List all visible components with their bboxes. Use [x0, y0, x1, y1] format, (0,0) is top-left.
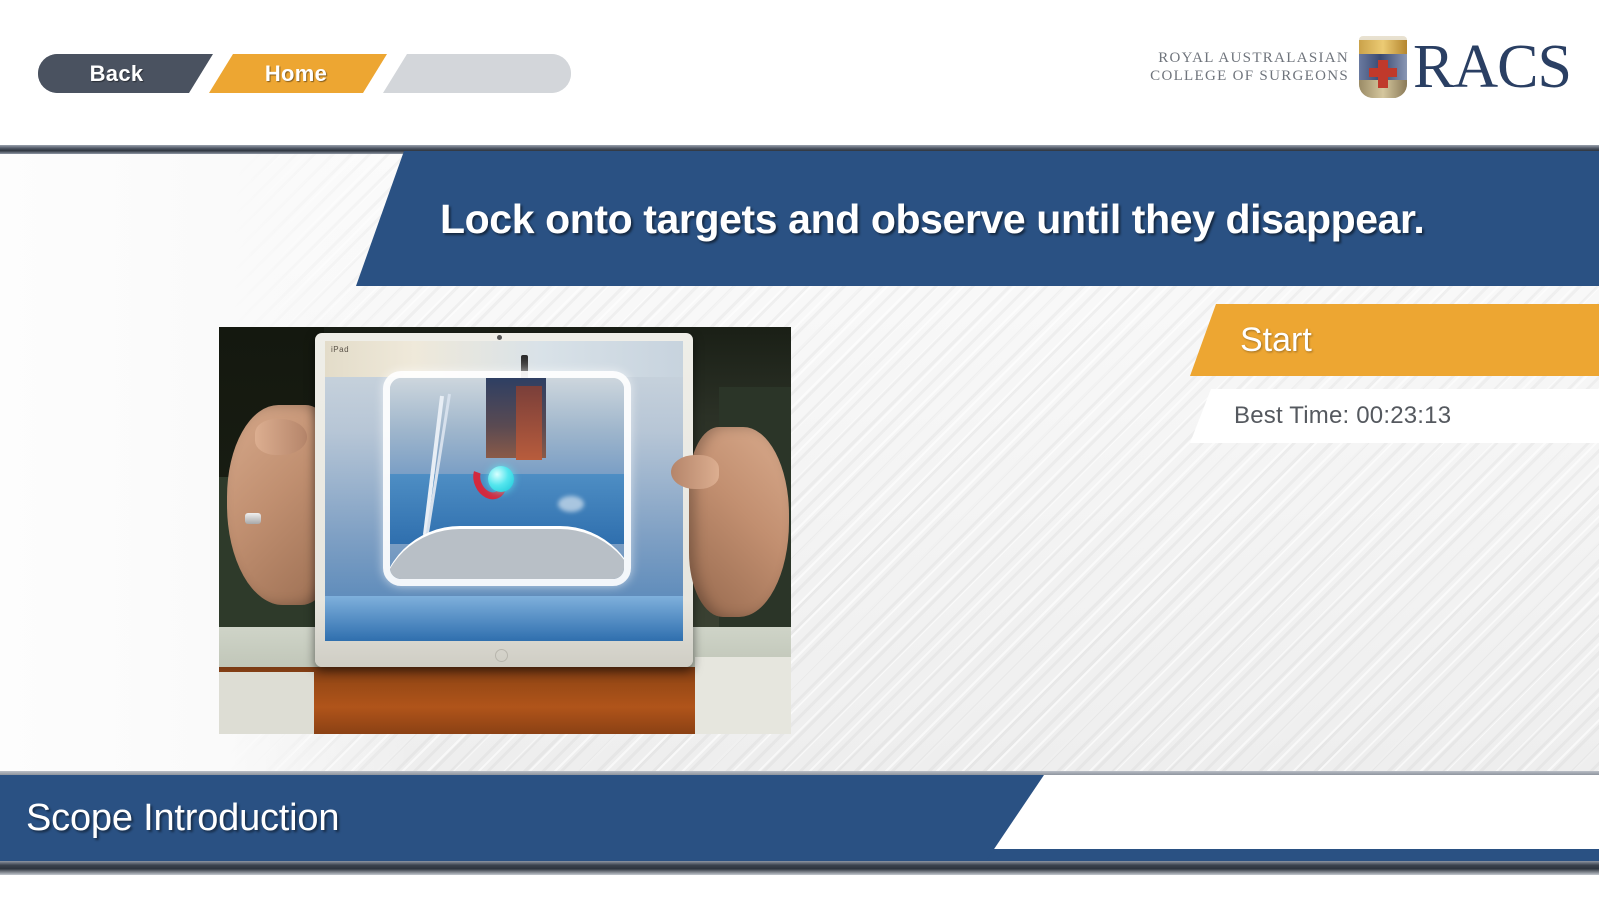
camera-icon	[497, 335, 502, 340]
instruction-banner: Lock onto targets and observe until they…	[356, 151, 1599, 286]
page-header: Back Home ROYAL AUSTRALASIAN COLLEGE OF …	[0, 0, 1599, 145]
start-button-label: Start	[1240, 321, 1312, 360]
instruction-text: Lock onto targets and observe until they…	[440, 194, 1424, 244]
page-bottom-margin	[0, 875, 1599, 900]
sim-column-red	[516, 386, 542, 460]
crest-band-top	[1359, 40, 1407, 54]
racs-crest-icon	[1359, 36, 1407, 98]
left-hand-thumb	[255, 419, 307, 455]
video-desk-left-edge	[219, 672, 314, 734]
logo-line-2: COLLEGE OF SURGEONS	[1150, 67, 1349, 85]
tablet-status-bar: iPad	[331, 345, 349, 354]
footer-bar: Scope Introduction	[0, 775, 1044, 861]
footer-divider	[0, 771, 1599, 775]
start-button[interactable]: Start	[1190, 304, 1599, 376]
target-sphere-icon[interactable]	[488, 466, 514, 492]
best-time-label: Best Time: 00:23:13	[1234, 402, 1451, 430]
nav-back-label: Back	[90, 61, 144, 87]
racs-wordmark: RACS	[1413, 36, 1571, 98]
logo-wordlines: ROYAL AUSTRALASIAN COLLEGE OF SURGEONS	[1150, 49, 1349, 85]
nav-back-button[interactable]: Back	[38, 54, 213, 93]
tablet-home-button-icon	[495, 649, 508, 662]
breadcrumb-nav: Back Home	[38, 54, 571, 93]
ring-icon	[245, 513, 261, 524]
sim-specular-highlight	[558, 496, 584, 512]
racs-logo: ROYAL AUSTRALASIAN COLLEGE OF SURGEONS R…	[1150, 28, 1571, 106]
scene-foreground	[325, 596, 683, 641]
crest-cross-icon	[1378, 60, 1388, 88]
nav-home-label: Home	[265, 61, 327, 87]
footer-bottom-rule	[0, 861, 1599, 875]
nav-placeholder-segment[interactable]	[383, 54, 571, 93]
simulator-viewport	[383, 371, 631, 586]
nav-home-button[interactable]: Home	[209, 54, 387, 93]
slide-canvas: Back Home ROYAL AUSTRALASIAN COLLEGE OF …	[0, 0, 1599, 900]
best-time-panel: Best Time: 00:23:13	[1190, 389, 1599, 443]
module-title: Scope Introduction	[26, 797, 339, 840]
tablet-device: iPad	[315, 333, 693, 667]
logo-line-1: ROYAL AUSTRALASIAN	[1150, 49, 1349, 67]
right-hand-thumb	[671, 455, 719, 489]
tablet-demo-video[interactable]: iPad	[219, 327, 791, 734]
tablet-screen: iPad	[325, 341, 683, 641]
video-desk-right-edge	[695, 657, 791, 734]
